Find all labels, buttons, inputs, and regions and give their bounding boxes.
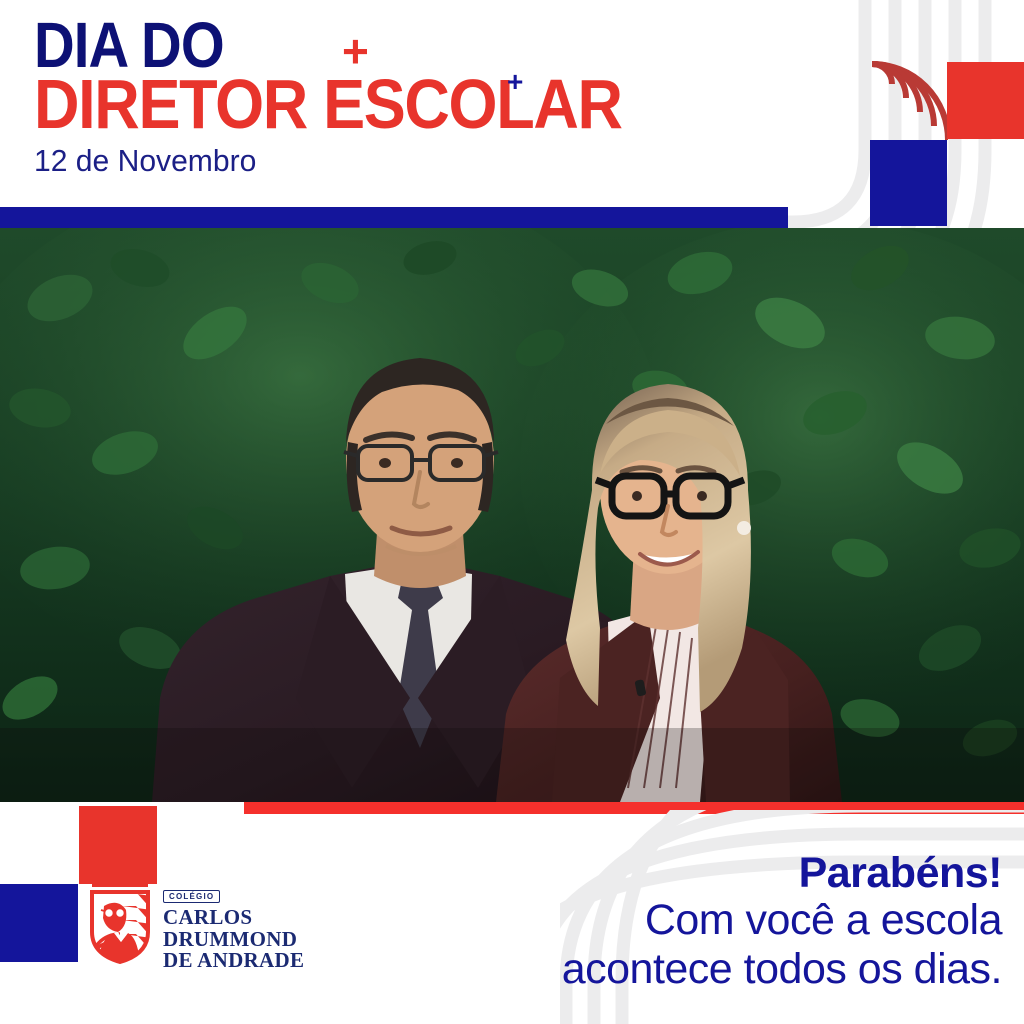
header-band: DIA DO DIRETOR ESCOLAR 12 de Novembro + …: [0, 0, 1024, 228]
page-title-line2: DIRETOR ESCOLAR: [34, 71, 622, 138]
school-name-line-3: DE ANDRADE: [163, 950, 304, 972]
plus-decor-red-top: +: [342, 28, 369, 74]
footer-band: + +: [0, 802, 1024, 1024]
accent-square-red-top: [947, 62, 1024, 139]
shield-crest-icon: [88, 880, 152, 964]
accent-square-blue-bottom: [0, 884, 78, 962]
accent-square-red-bottom: [79, 806, 157, 884]
hero-photo: [0, 228, 1024, 802]
school-wordmark: COLÉGIO CARLOS DRUMMOND DE ANDRADE: [163, 880, 304, 972]
school-name-line-2: DRUMMOND: [163, 929, 304, 951]
social-post-canvas: DIA DO DIRETOR ESCOLAR 12 de Novembro + …: [0, 0, 1024, 1024]
divider-blue-rule: [0, 207, 788, 228]
photo-illustration: [0, 228, 1024, 802]
school-name-line-1: CARLOS: [163, 907, 304, 929]
accent-square-blue-top: [870, 140, 947, 226]
message-line-1: Com você a escola: [562, 896, 1002, 945]
message-line-2: acontece todos os dias.: [562, 945, 1002, 994]
message-block: Parabéns! Com você a escola acontece tod…: [562, 850, 1002, 994]
school-logo: COLÉGIO CARLOS DRUMMOND DE ANDRADE: [88, 880, 304, 972]
colegio-badge: COLÉGIO: [163, 890, 220, 903]
message-headline: Parabéns!: [562, 850, 1002, 896]
school-name: CARLOS DRUMMOND DE ANDRADE: [163, 907, 304, 972]
plus-decor-blue-top: +: [507, 68, 523, 96]
concentric-arcs-icon: [866, 58, 948, 140]
event-date: 12 de Novembro: [34, 143, 667, 179]
divider-red-rule: [244, 802, 1024, 814]
